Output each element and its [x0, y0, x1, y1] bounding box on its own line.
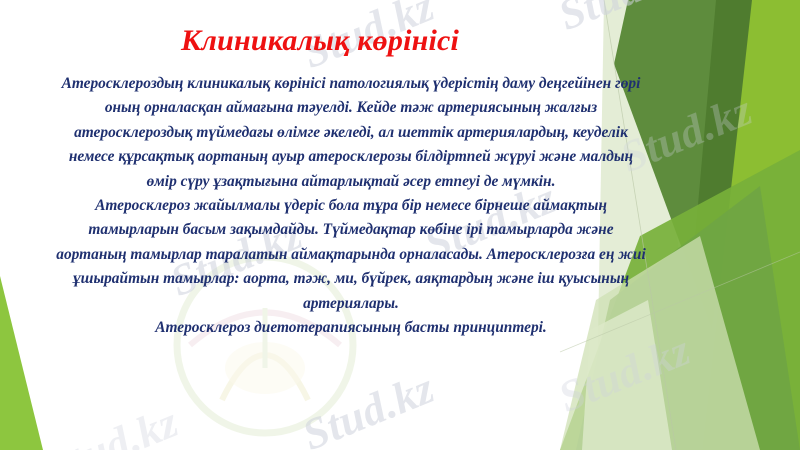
body-paragraph: Атеросклероз диетотерапиясының басты при…	[52, 316, 650, 340]
slide-body-text: Атеросклероздың клиникалық көрінісі пато…	[52, 72, 650, 340]
body-paragraph: Атеросклероз жайылмалы үдеріс бола тұра …	[52, 194, 650, 316]
slide-title: Клиникалық көрінісі	[0, 24, 640, 58]
slide-content: Клиникалық көрінісі Атеросклероздың клин…	[0, 0, 800, 450]
body-paragraph: Атеросклероздың клиникалық көрінісі пато…	[52, 72, 650, 194]
presentation-slide: Stud.kz Stud.kz Stud.kz Stud.kz Stud.kz …	[0, 0, 800, 450]
